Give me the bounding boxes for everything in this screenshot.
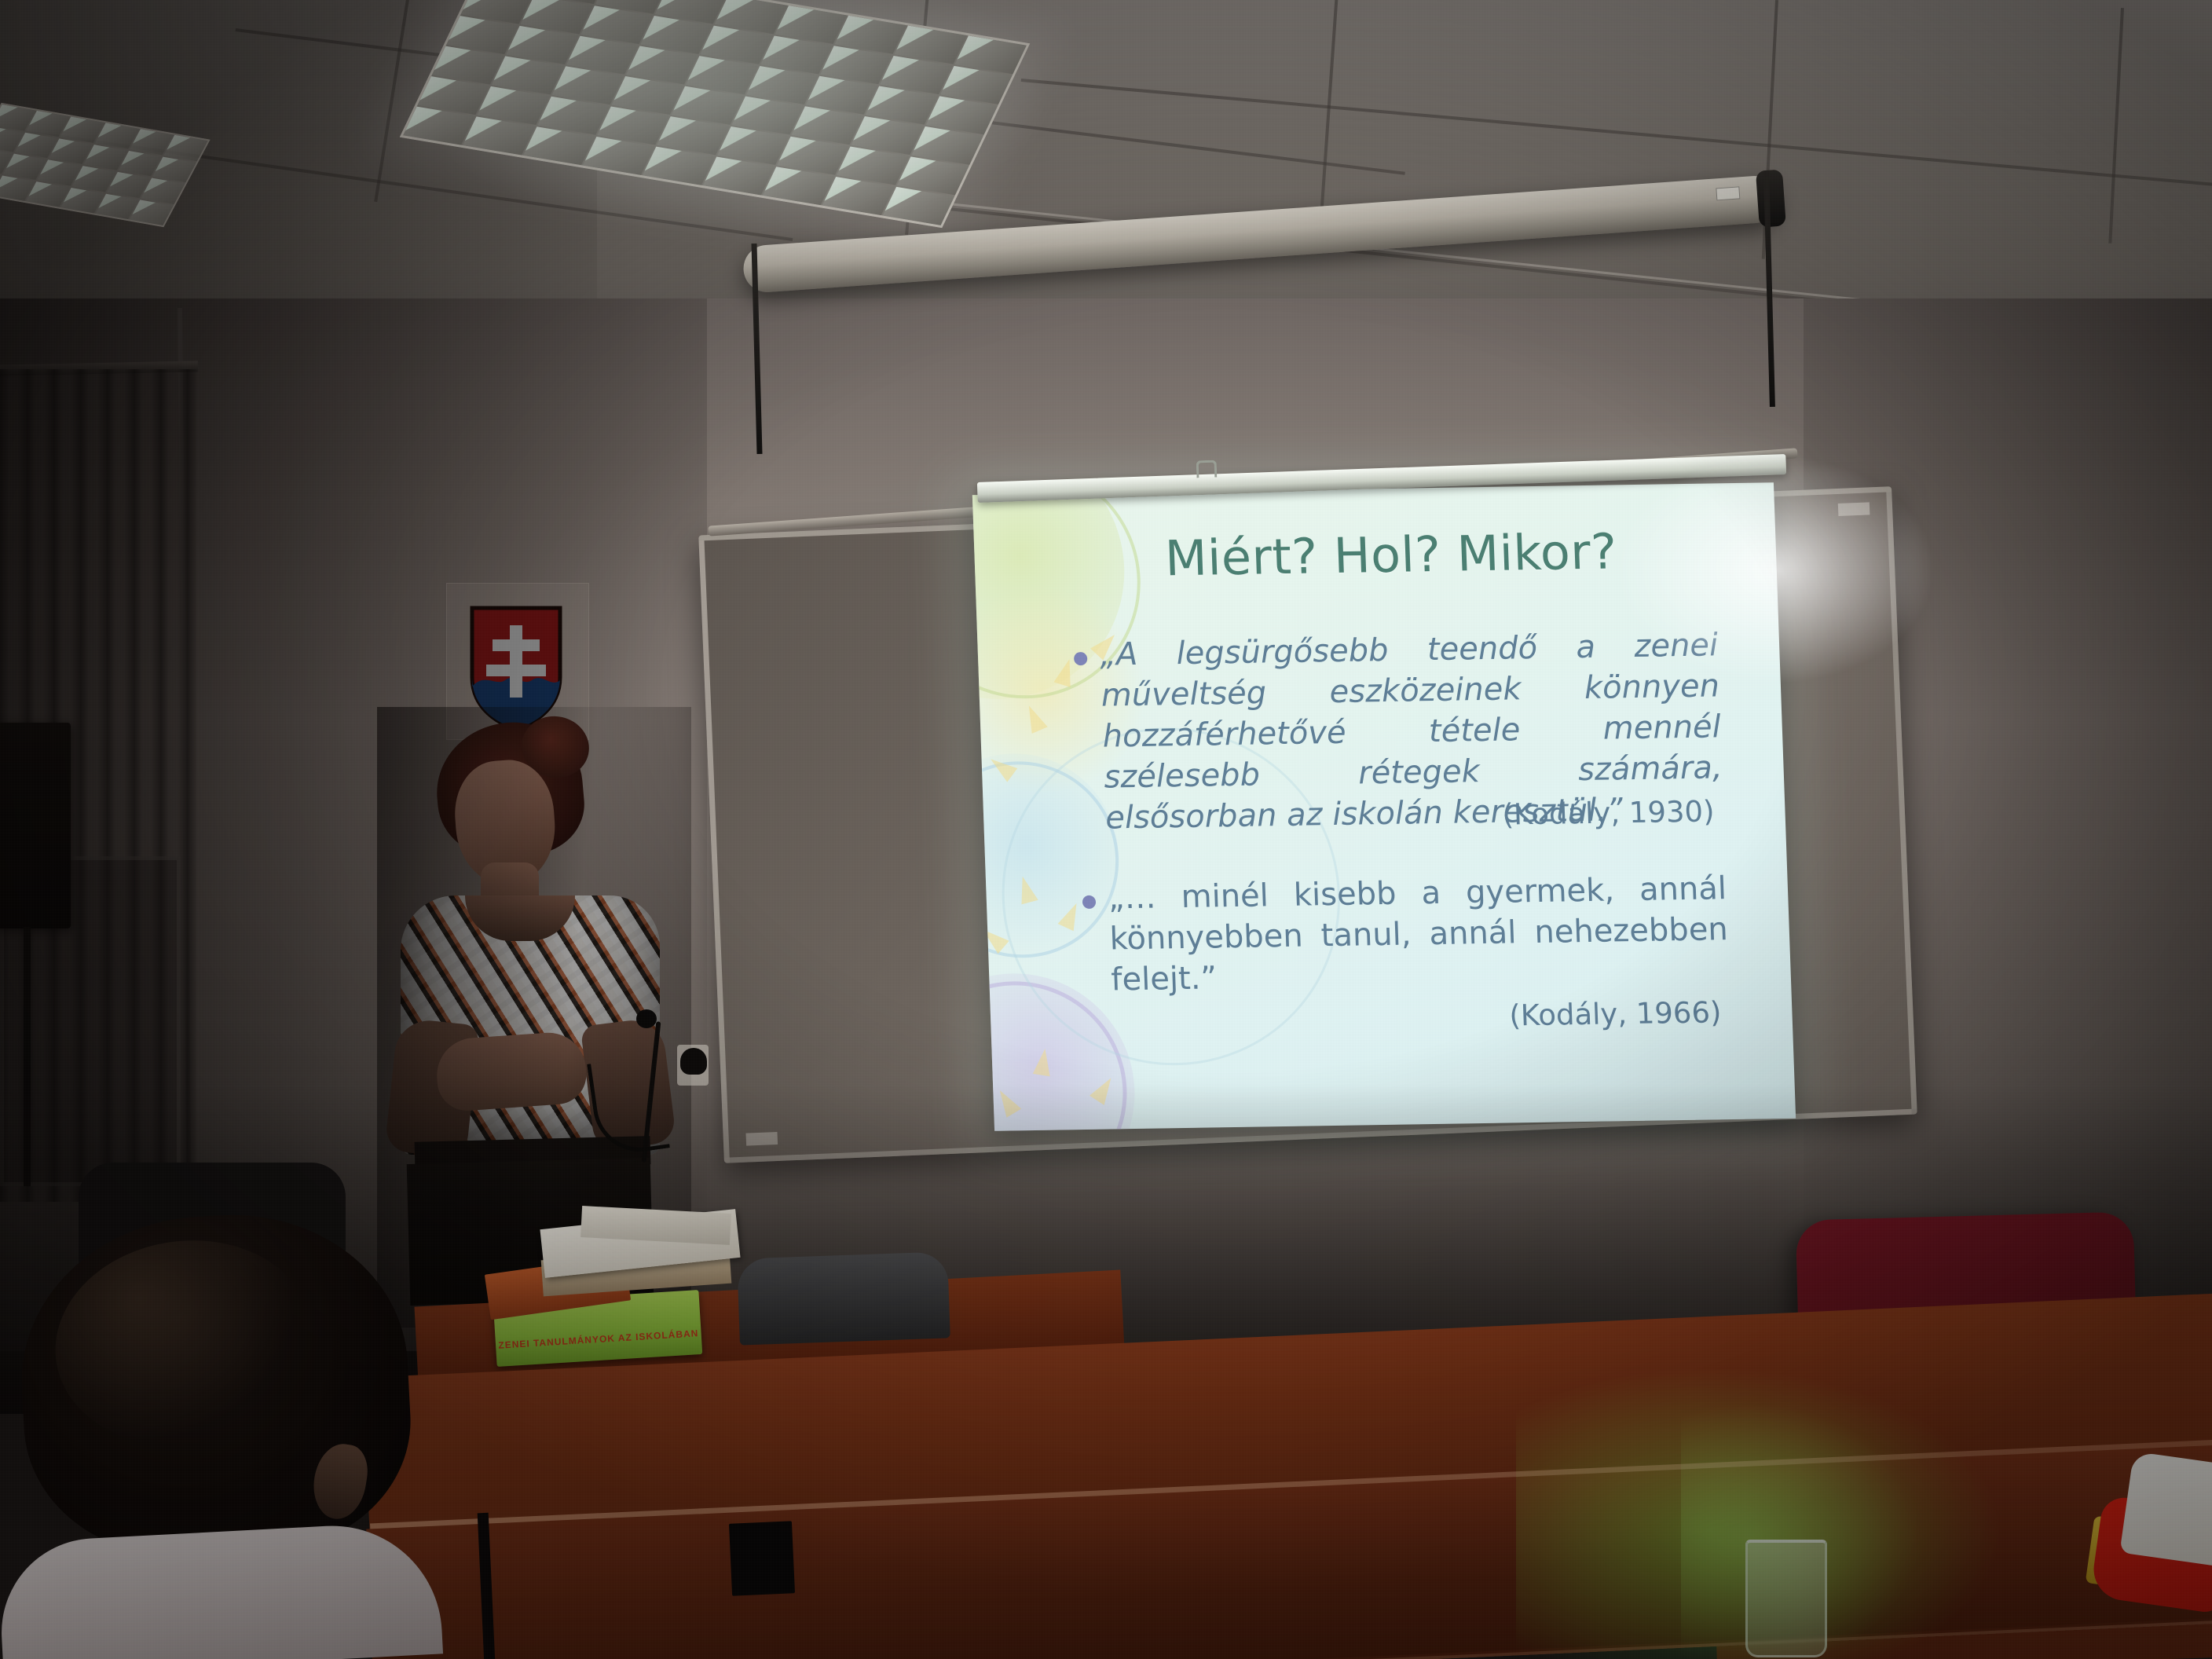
bullet-dot-icon: [1082, 895, 1097, 909]
photo-scene: Miért? Hol? Mikor? „A legsürgősebb teend…: [0, 0, 2212, 1659]
deco-ray: [1033, 1047, 1054, 1076]
microphone-head-icon[interactable]: [636, 1009, 657, 1028]
slide-title: Miért? Hol? Mikor?: [1084, 522, 1699, 588]
bag-white-part: [2119, 1452, 2212, 1569]
table-cable-panel[interactable]: [729, 1521, 795, 1596]
slide-bullet-2: „… minél kisebb a gyermek, annál könnyeb…: [1082, 868, 1730, 1001]
plastic-cup[interactable]: [1745, 1540, 1827, 1657]
slide-attribution-2: (Kodály, 1966): [1273, 995, 1723, 1036]
slide-bullet-2-text: „… minél kisebb a gyermek, annál könnyeb…: [1108, 868, 1730, 1000]
bullet-dot-icon: [1074, 652, 1088, 665]
plastic-bag[interactable]: [2089, 1448, 2212, 1623]
projection-screen-hook[interactable]: [1196, 460, 1218, 478]
projection-screen-surface: Miért? Hol? Mikor? „A legsürgősebb teend…: [972, 482, 1796, 1131]
chair-grey-center[interactable]: [737, 1251, 950, 1345]
slide-attribution-1: (Kodály, 1930): [1266, 794, 1716, 835]
slovak-coat-of-arms-icon: [469, 605, 563, 731]
audience-member-white-shirt: [0, 1520, 443, 1659]
screen-housing-endcap: [1756, 169, 1786, 227]
whiteboard-corner-label: [1838, 502, 1870, 516]
outlet-plug-icon: [680, 1048, 707, 1075]
green-book-spine-text: ZENEI TANULMÁNYOK AZ ISKOLÁBAN: [496, 1328, 701, 1351]
screen-housing-label: [1716, 186, 1740, 200]
